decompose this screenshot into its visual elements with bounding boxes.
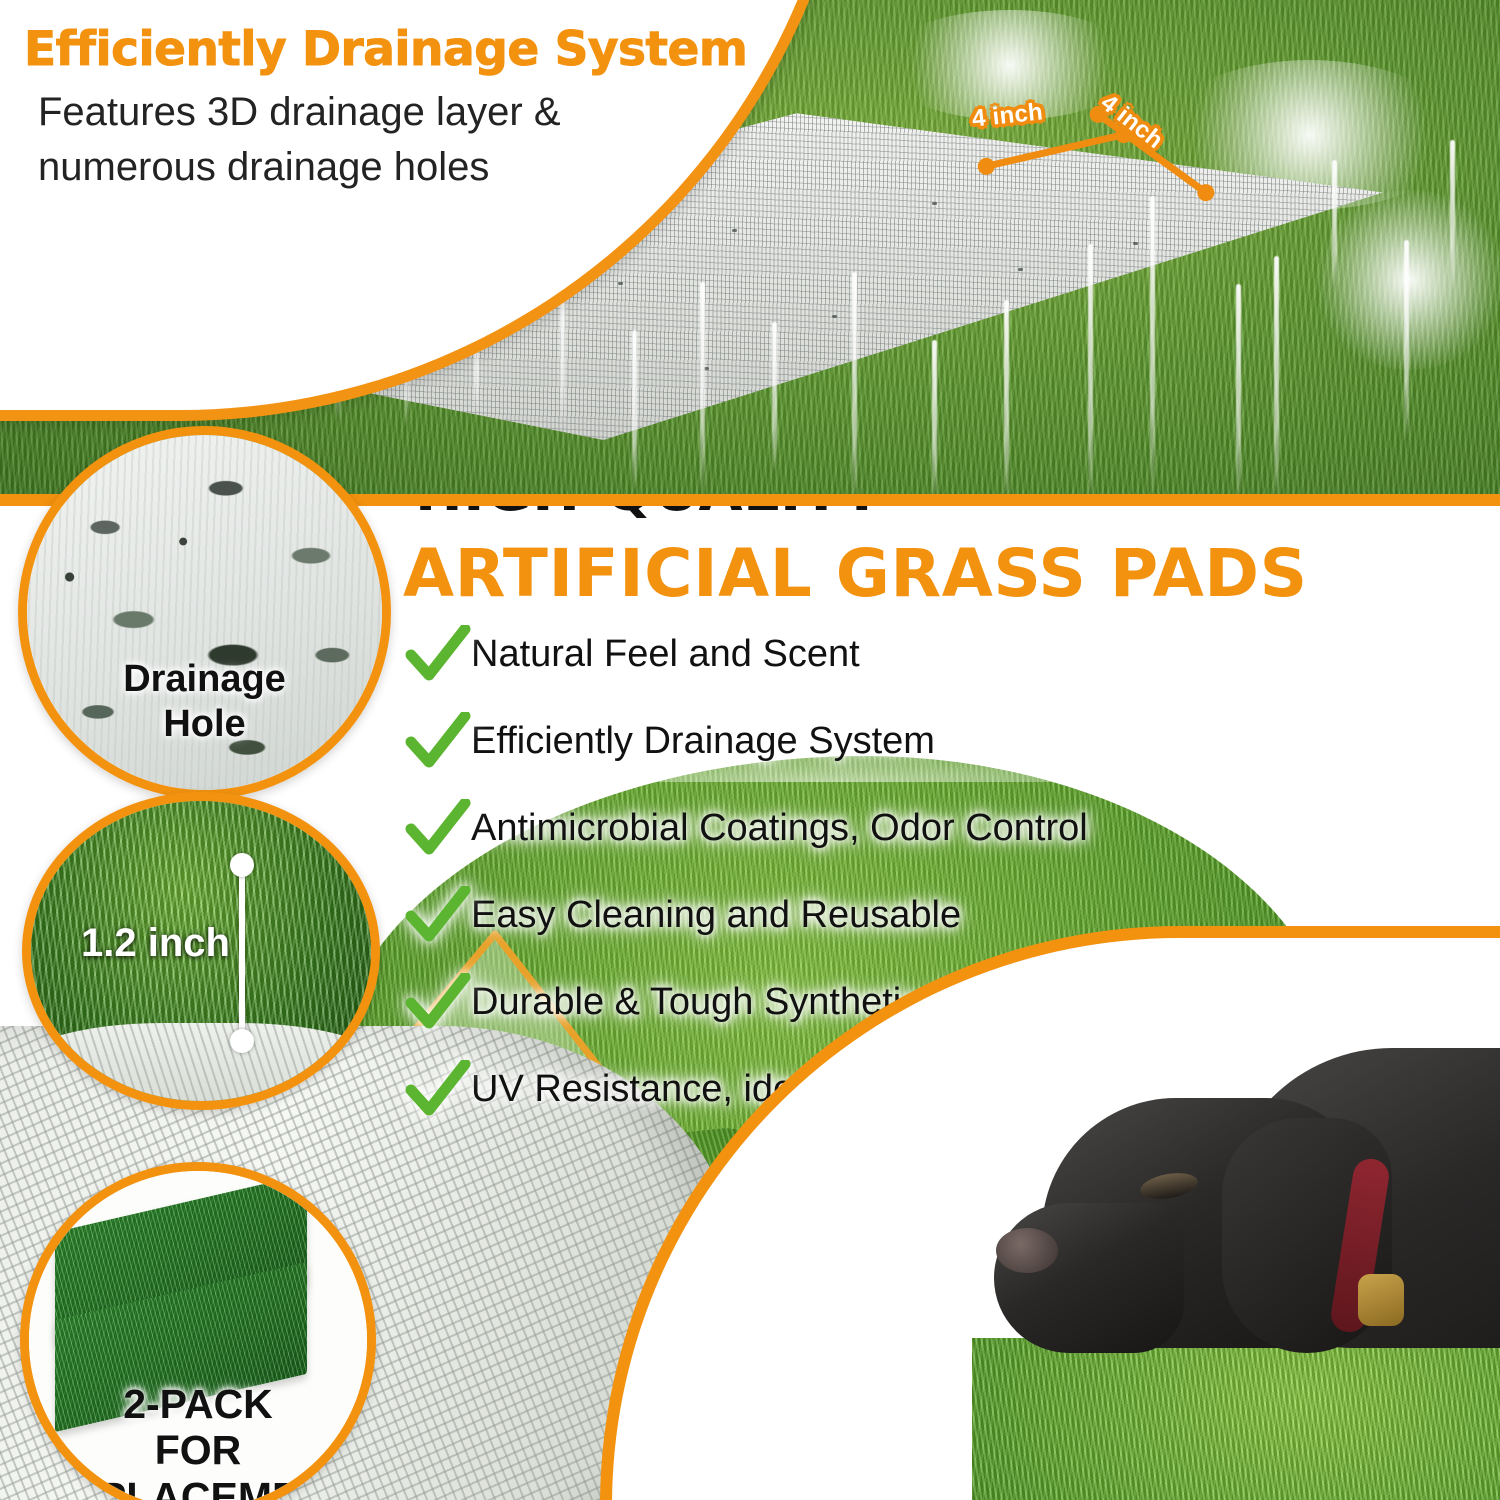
feature-label: Easy Cleaning and Reusable bbox=[471, 894, 961, 937]
height-measure-line bbox=[239, 863, 245, 1043]
dog-nose bbox=[996, 1228, 1058, 1273]
drainage-hole-caption: Drainage Hole bbox=[27, 657, 382, 747]
water-stream bbox=[1450, 140, 1455, 290]
dog-collar-tag bbox=[1358, 1274, 1404, 1326]
feature-item: Natural Feel and Scent bbox=[405, 611, 1415, 698]
banner-title: Efficiently Drainage System bbox=[24, 22, 794, 77]
water-stream bbox=[1404, 240, 1409, 440]
check-icon bbox=[405, 973, 471, 1033]
water-stream bbox=[1236, 284, 1241, 500]
feature-label: Efficiently Drainage System bbox=[471, 720, 935, 763]
pile-height-label: 1.2 inch bbox=[81, 921, 230, 966]
feature-label: Natural Feel and Scent bbox=[471, 633, 860, 676]
water-stream bbox=[1088, 244, 1093, 500]
dog-photo bbox=[972, 978, 1500, 1500]
water-stream bbox=[932, 340, 937, 500]
check-icon bbox=[405, 799, 471, 859]
drainage-hole-caption-line2: Hole bbox=[27, 702, 382, 747]
check-icon bbox=[405, 886, 471, 946]
heading-high-quality: HIGH-QUALITY bbox=[415, 506, 883, 524]
callout-drainage-hole: Drainage Hole bbox=[18, 426, 391, 799]
callout-two-pack: 2-PACK FOR REPLACEMENT bbox=[20, 1162, 376, 1500]
check-icon bbox=[405, 1060, 471, 1120]
callout-pile-height: 1.2 inch bbox=[22, 792, 380, 1110]
feature-label: Antimicrobial Coatings, Odor Control bbox=[471, 807, 1088, 850]
water-stream bbox=[1332, 160, 1337, 288]
water-stream bbox=[632, 330, 637, 490]
heading-artificial-grass-pads: ARTIFICIAL GRASS PADS bbox=[403, 535, 1308, 612]
water-stream bbox=[700, 282, 705, 492]
banner-subtitle-line2: numerous drainage holes bbox=[38, 140, 728, 195]
water-stream bbox=[852, 272, 857, 500]
water-stream bbox=[1004, 300, 1009, 500]
two-pack-caption-line1: 2-PACK bbox=[29, 1381, 367, 1428]
product-infographic: Efficiently Drainage System Features 3D … bbox=[0, 0, 1500, 1500]
check-icon bbox=[405, 712, 471, 772]
mesh-base-texture bbox=[22, 1023, 380, 1101]
feature-item: Efficiently Drainage System bbox=[405, 698, 1415, 785]
dog-muzzle bbox=[994, 1203, 1184, 1353]
water-stream bbox=[772, 322, 777, 472]
feature-item: Antimicrobial Coatings, Odor Control bbox=[405, 785, 1415, 872]
dog-grass bbox=[972, 1338, 1500, 1500]
drainage-banner: Efficiently Drainage System Features 3D … bbox=[0, 0, 1500, 500]
banner-subtitle-line1: Features 3D drainage layer & bbox=[38, 85, 728, 140]
banner-subtitle: Features 3D drainage layer & numerous dr… bbox=[38, 85, 728, 195]
drainage-hole-caption-line1: Drainage bbox=[27, 657, 382, 702]
two-pack-caption-line2: FOR REPLACEMENT bbox=[29, 1427, 367, 1500]
water-stream bbox=[1150, 196, 1155, 496]
water-stream bbox=[1274, 256, 1279, 500]
check-icon bbox=[405, 625, 471, 685]
